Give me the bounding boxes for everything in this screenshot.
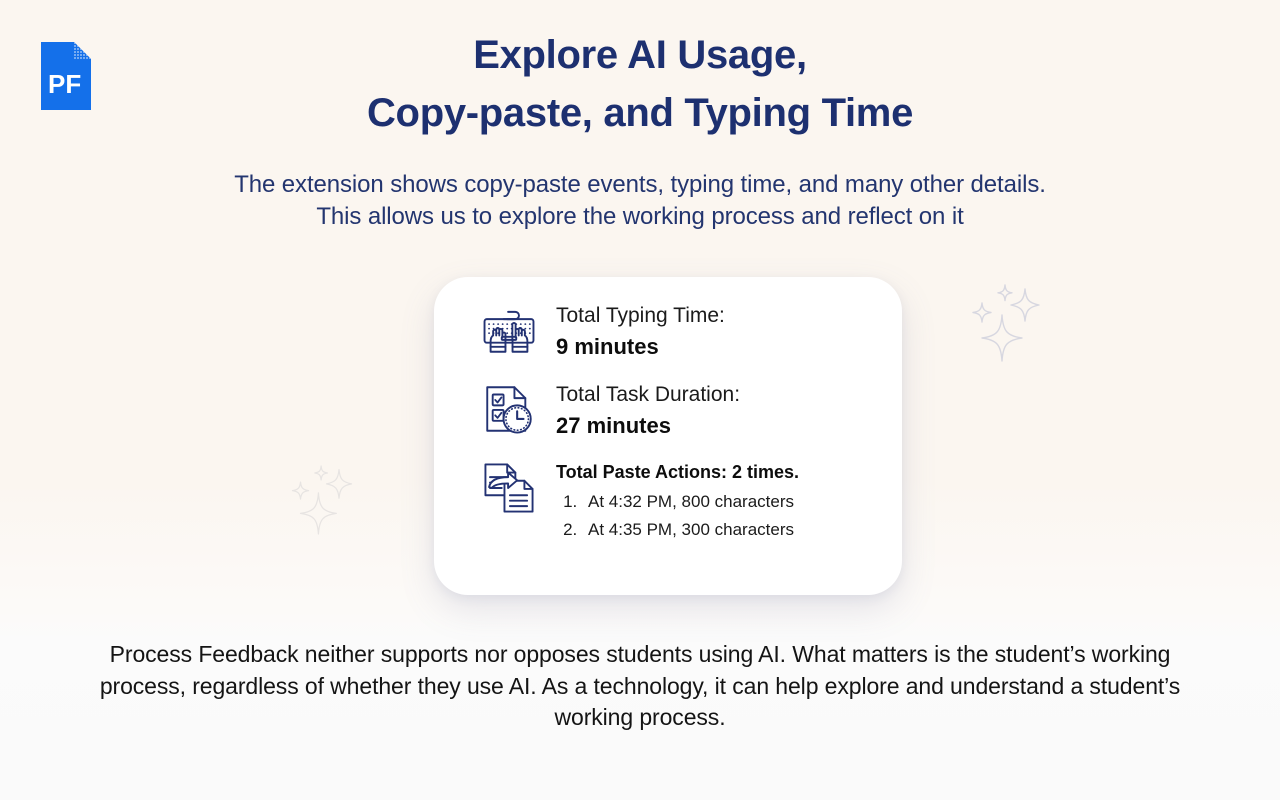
- stat-text-task-duration: Total Task Duration: 27 minutes: [556, 378, 740, 441]
- page-subtitle-line-1: The extension shows copy-paste events, t…: [0, 169, 1280, 201]
- stat-text-paste-actions: Total Paste Actions: 2 times. At 4:32 PM…: [556, 457, 799, 544]
- stat-value: 27 minutes: [556, 411, 740, 441]
- checklist-clock-icon: [478, 378, 540, 440]
- sparkles-icon-right: [968, 281, 1044, 365]
- stats-card: Total Typing Time: 9 minutes Total T: [434, 277, 902, 595]
- stat-label: Total Task Duration:: [556, 381, 740, 408]
- stat-row-typing-time: Total Typing Time: 9 minutes: [434, 299, 902, 362]
- copy-paste-documents-icon: [478, 457, 540, 519]
- page-subtitle: The extension shows copy-paste events, t…: [0, 169, 1280, 233]
- stat-row-task-duration: Total Task Duration: 27 minutes: [434, 378, 902, 441]
- list-item: At 4:35 PM, 300 characters: [582, 516, 799, 544]
- page-title-line-2: Copy-paste, and Typing Time: [0, 84, 1280, 142]
- stat-label: Total Typing Time:: [556, 302, 725, 329]
- stat-value: 9 minutes: [556, 332, 725, 362]
- paste-heading: Total Paste Actions: 2 times.: [556, 460, 799, 484]
- keyboard-hands-icon: [478, 299, 540, 361]
- footer-paragraph: Process Feedback neither supports nor op…: [70, 639, 1210, 734]
- page-subtitle-line-2: This allows us to explore the working pr…: [0, 201, 1280, 233]
- page-title: Explore AI Usage, Copy-paste, and Typing…: [0, 26, 1280, 142]
- stat-row-paste-actions: Total Paste Actions: 2 times. At 4:32 PM…: [434, 457, 902, 544]
- paste-list: At 4:32 PM, 800 characters At 4:35 PM, 3…: [556, 488, 799, 544]
- header: Explore AI Usage, Copy-paste, and Typing…: [0, 26, 1280, 233]
- list-item: At 4:32 PM, 800 characters: [582, 488, 799, 516]
- stat-text-typing-time: Total Typing Time: 9 minutes: [556, 299, 725, 362]
- sparkles-icon-left: [288, 462, 356, 538]
- page-title-line-1: Explore AI Usage,: [0, 26, 1280, 84]
